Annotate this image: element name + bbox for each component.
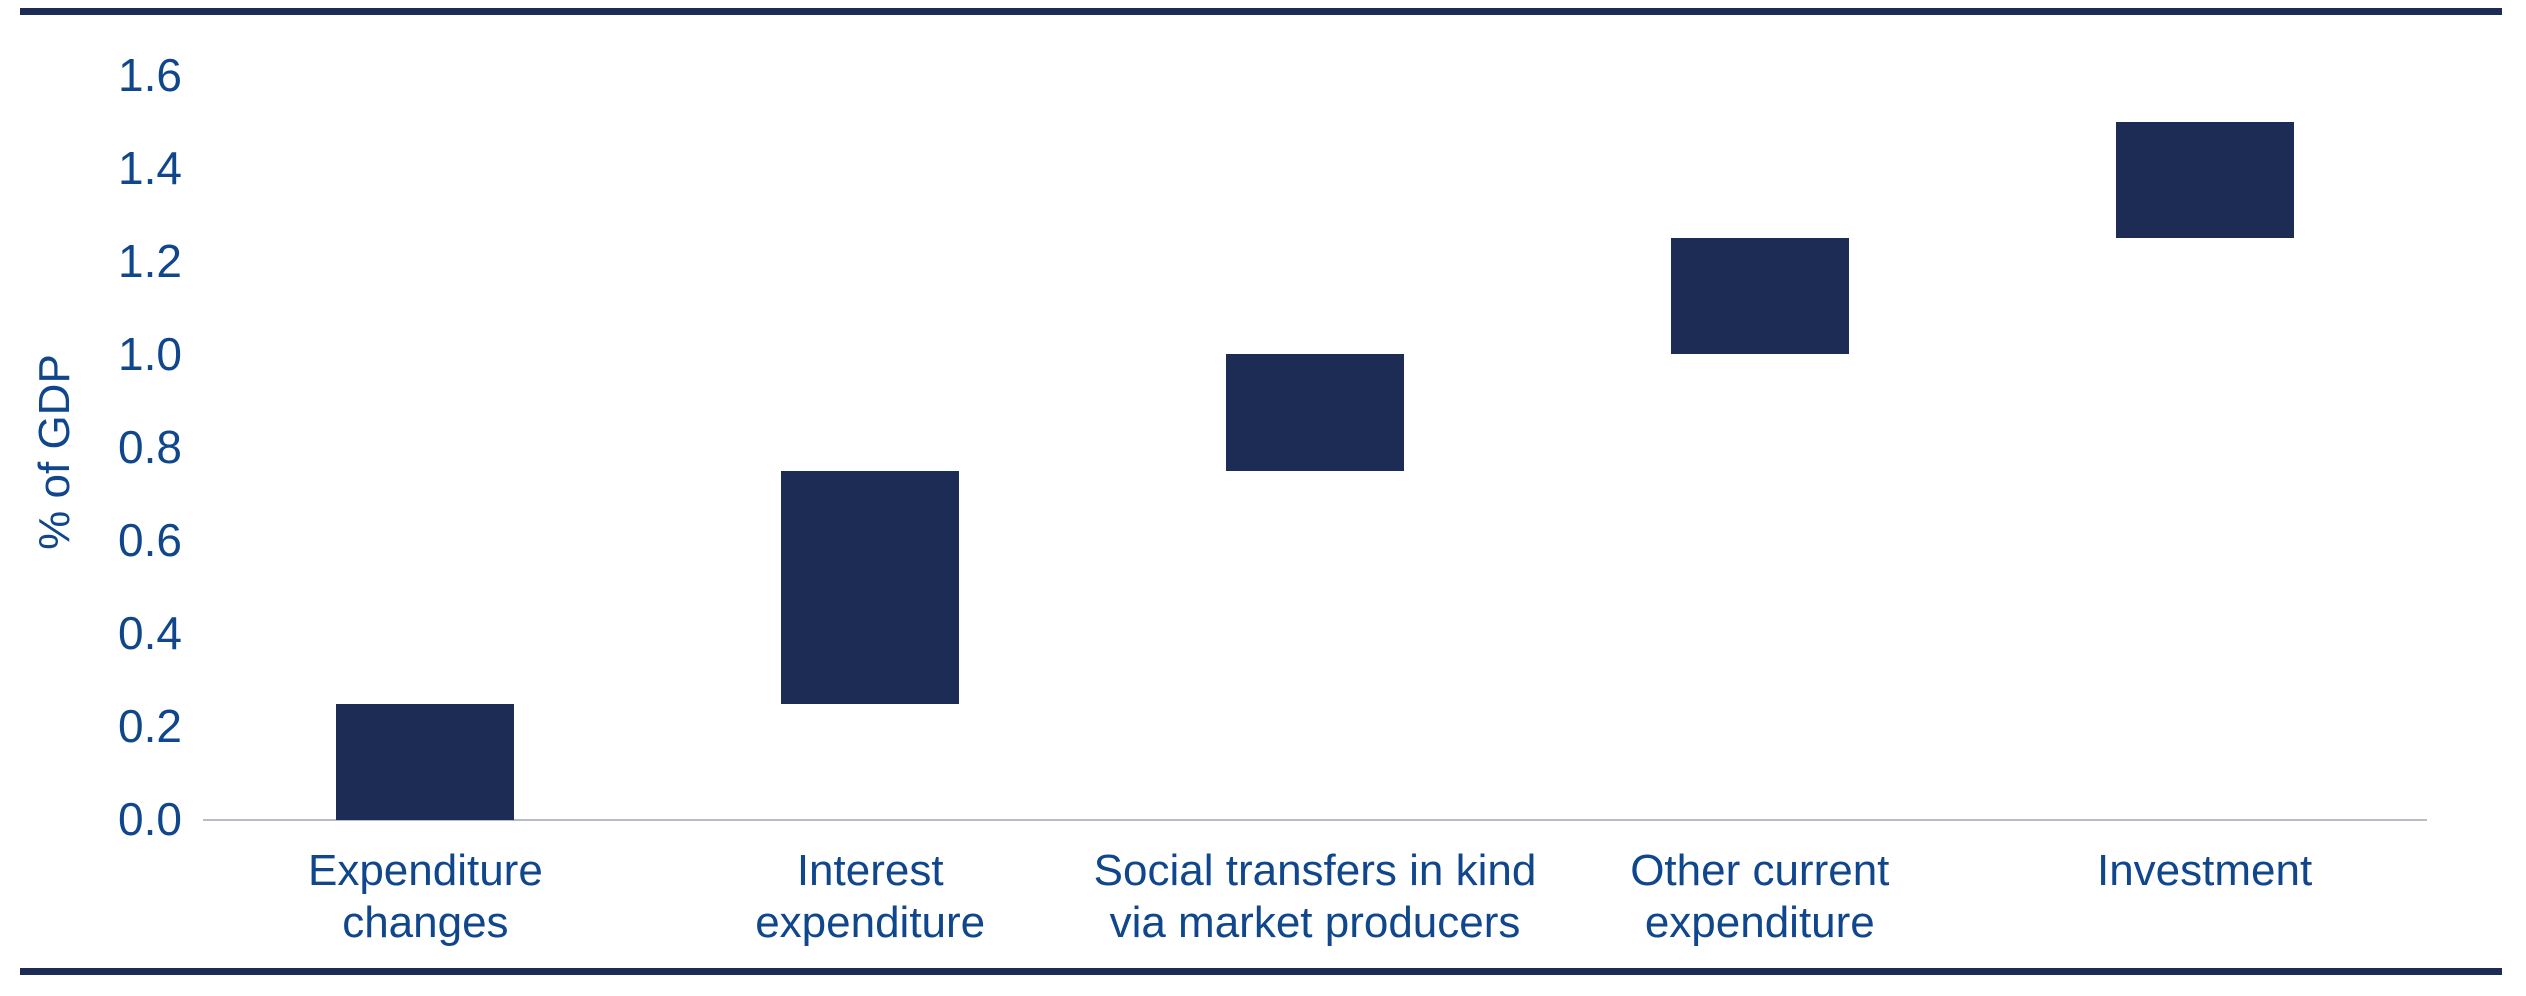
x-tick-label-other-current-expenditure: Other current expenditure [1500,845,2020,949]
x-tick-label-interest-expenditure: Interest expenditure [610,845,1130,949]
x-tick-label-social-transfers: Social transfers in kind via market prod… [1055,845,1575,949]
bar-expenditure-changes[interactable] [336,704,514,820]
y-tick-label: 1.4 [42,145,182,191]
y-tick-label: 0.6 [42,517,182,563]
y-tick-label: 1.6 [42,52,182,98]
bar-investment[interactable] [2116,122,2294,238]
bar-other-current-expenditure[interactable] [1671,238,1849,354]
x-tick-label-investment: Investment [1945,845,2465,897]
x-axis-line [203,819,2427,821]
bar-interest-expenditure[interactable] [781,471,959,704]
bar-social-transfers-in-kind[interactable] [1226,354,1404,470]
x-tick-label-expenditure-changes: Expenditure changes [165,845,685,949]
y-tick-label: 1.0 [42,331,182,377]
plot-area: % of GDP 1.6 1.4 1.2 1.0 0.8 0.6 0.4 0.2… [0,0,2526,996]
y-tick-label: 0.0 [42,796,182,842]
chart-figure: % of GDP 1.6 1.4 1.2 1.0 0.8 0.6 0.4 0.2… [0,0,2526,996]
y-tick-label: 1.2 [42,238,182,284]
y-tick-label: 0.8 [42,424,182,470]
y-tick-label: 0.2 [42,703,182,749]
y-tick-label: 0.4 [42,610,182,656]
